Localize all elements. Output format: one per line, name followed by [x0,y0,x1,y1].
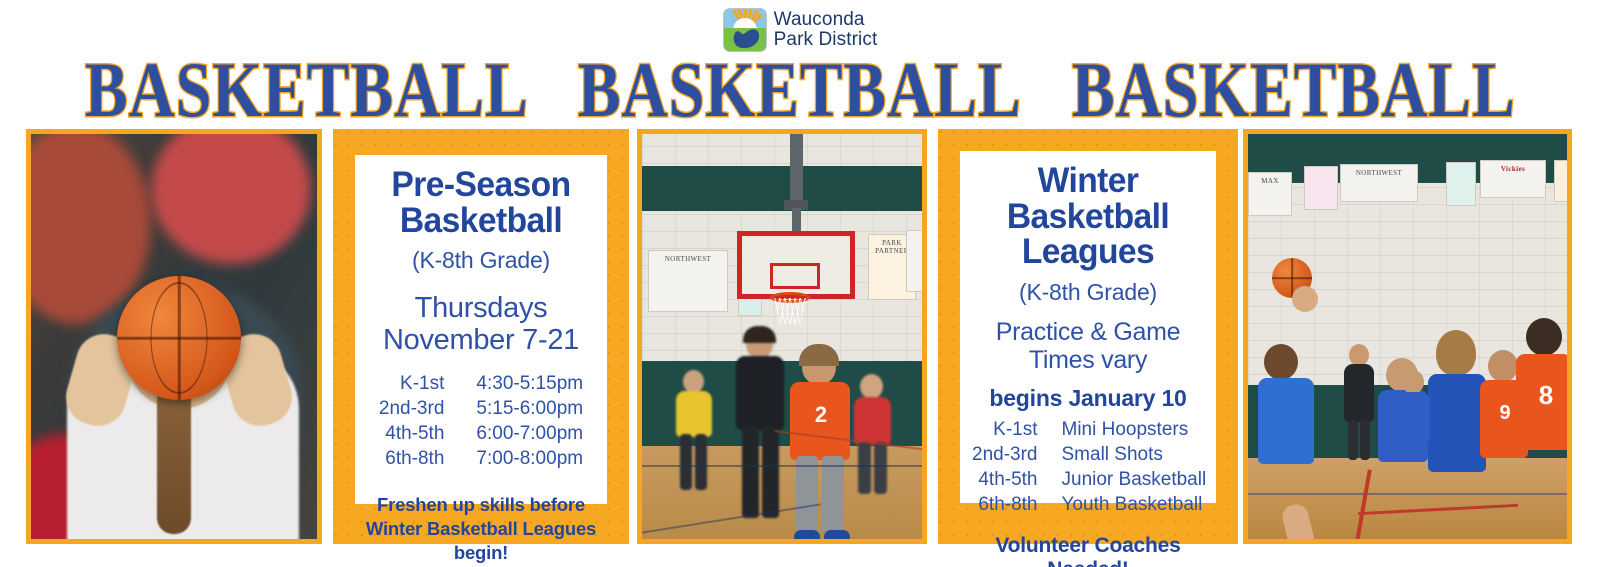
backboard-icon [737,231,855,299]
photo-panel-left [26,129,322,544]
preseason-heading-line-2: Basketball [366,203,596,239]
lake-shape-icon [731,25,761,49]
photo-panel-right: MAX NORTHWEST Vickies [1243,129,1572,544]
table-row: 6th-8th Youth Basketball [966,492,1212,517]
winter-heading-line-1: Winter [971,163,1205,199]
winter-row-grade-3: 6th-8th [966,492,1044,517]
winter-row-program-3: Youth Basketball [1044,492,1213,517]
preseason-panel: Pre-Season Basketball (K-8th Grade) Thur… [333,129,629,544]
winter-grade-range: (K-8th Grade) [966,279,1210,306]
winter-row-program-2: Junior Basketball [1044,467,1213,492]
winter-volunteer-callout: Volunteer Coaches Needed! [966,534,1210,567]
sponsor-banner: NORTHWEST [1340,164,1418,202]
preseason-row-grade-0: K-1st [373,371,451,396]
winter-times: Practice & Game Times vary [966,319,1210,374]
basketball-icon [117,276,241,400]
winter-row-program-1: Small Shots [1044,442,1213,467]
preseason-dates: Thursdays November 7-21 [361,293,601,357]
winter-row-grade-2: 4th-5th [966,467,1044,492]
winter-row-program-0: Mini Hoopsters [1044,417,1213,442]
preseason-heading: Pre-Season Basketball [366,167,596,238]
sponsor-banner [1446,162,1476,206]
winter-heading: Winter Basketball Leagues [971,163,1205,270]
photo-game-action: MAX NORTHWEST Vickies [1248,134,1567,539]
sponsor-banner: NORTHWEST [648,250,728,312]
winter-start-date: begins January 10 [966,385,1210,412]
table-row: 2nd-3rd 5:15-6:00pm [373,396,589,421]
sponsor-banner: MAX [1248,172,1292,216]
sponsor-banner [906,230,922,292]
preseason-date-range: November 7-21 [361,325,601,357]
table-row: K-1st Mini Hoopsters [966,417,1212,442]
title-word-2: BASKETBALL [578,54,1022,127]
winter-times-line-2: Times vary [966,347,1210,375]
preseason-row-time-3: 7:00-8:00pm [450,446,589,471]
winter-row-grade-1: 2nd-3rd [966,442,1044,467]
preseason-schedule-table: K-1st 4:30-5:15pm 2nd-3rd 5:15-6:00pm 4t… [373,371,589,471]
photo-panel-center: NORTHWEST PARKPARTNER [637,129,927,544]
photo-girl-with-basketball [31,134,317,539]
park-sunrise-logo-icon [723,8,767,52]
preseason-card: Pre-Season Basketball (K-8th Grade) Thur… [355,155,607,504]
preseason-footnote: Freshen up skills before Winter Basketba… [361,493,601,564]
preseason-row-grade-3: 6th-8th [373,446,451,471]
sponsor-banner: Vickies [1480,160,1546,198]
winter-leagues-panel: Winter Basketball Leagues (K-8th Grade) … [938,129,1238,544]
preseason-footnote-line-2: Winter Basketball Leagues begin! [361,517,601,564]
title-word-1: BASKETBALL [85,54,529,127]
preseason-day: Thursdays [361,293,601,325]
winter-programs-table: K-1st Mini Hoopsters 2nd-3rd Small Shots… [966,417,1212,517]
winter-times-line-1: Practice & Game [966,319,1210,347]
table-row: 4th-5th Junior Basketball [966,467,1212,492]
preseason-row-time-0: 4:30-5:15pm [450,371,589,396]
preseason-row-grade-1: 2nd-3rd [373,396,451,421]
table-row: K-1st 4:30-5:15pm [373,371,589,396]
preseason-grade-range: (K-8th Grade) [361,247,601,274]
winter-heading-line-3: Leagues [971,234,1205,270]
preseason-row-grade-2: 4th-5th [373,421,451,446]
preseason-footnote-line-1: Freshen up skills before [361,493,601,517]
table-row: 6th-8th 7:00-8:00pm [373,446,589,471]
winter-row-grade-0: K-1st [966,417,1044,442]
preseason-row-time-2: 6:00-7:00pm [450,421,589,446]
brand-header: Wauconda Park District [0,8,1600,52]
photo-gym-practice: NORTHWEST PARKPARTNER [642,134,922,539]
winter-leagues-card: Winter Basketball Leagues (K-8th Grade) … [960,151,1216,503]
preseason-row-time-1: 5:15-6:00pm [450,396,589,421]
title-word-3: BASKETBALL [1072,54,1516,127]
preseason-heading-line-1: Pre-Season [366,167,596,203]
brand-name: Wauconda Park District [774,10,878,50]
table-row: 2nd-3rd Small Shots [966,442,1212,467]
page-title: BASKETBALL BASKETBALL BASKETBALL [0,60,1600,122]
flyer-root: Wauconda Park District BASKETBALL BASKET… [0,0,1600,567]
sponsor-banner [1554,160,1567,202]
brand-line-1: Wauconda [774,10,878,30]
table-row: 4th-5th 6:00-7:00pm [373,421,589,446]
panel-strip: Pre-Season Basketball (K-8th Grade) Thur… [0,129,1600,544]
winter-heading-line-2: Basketball [971,199,1205,235]
sponsor-banner [1304,166,1338,210]
